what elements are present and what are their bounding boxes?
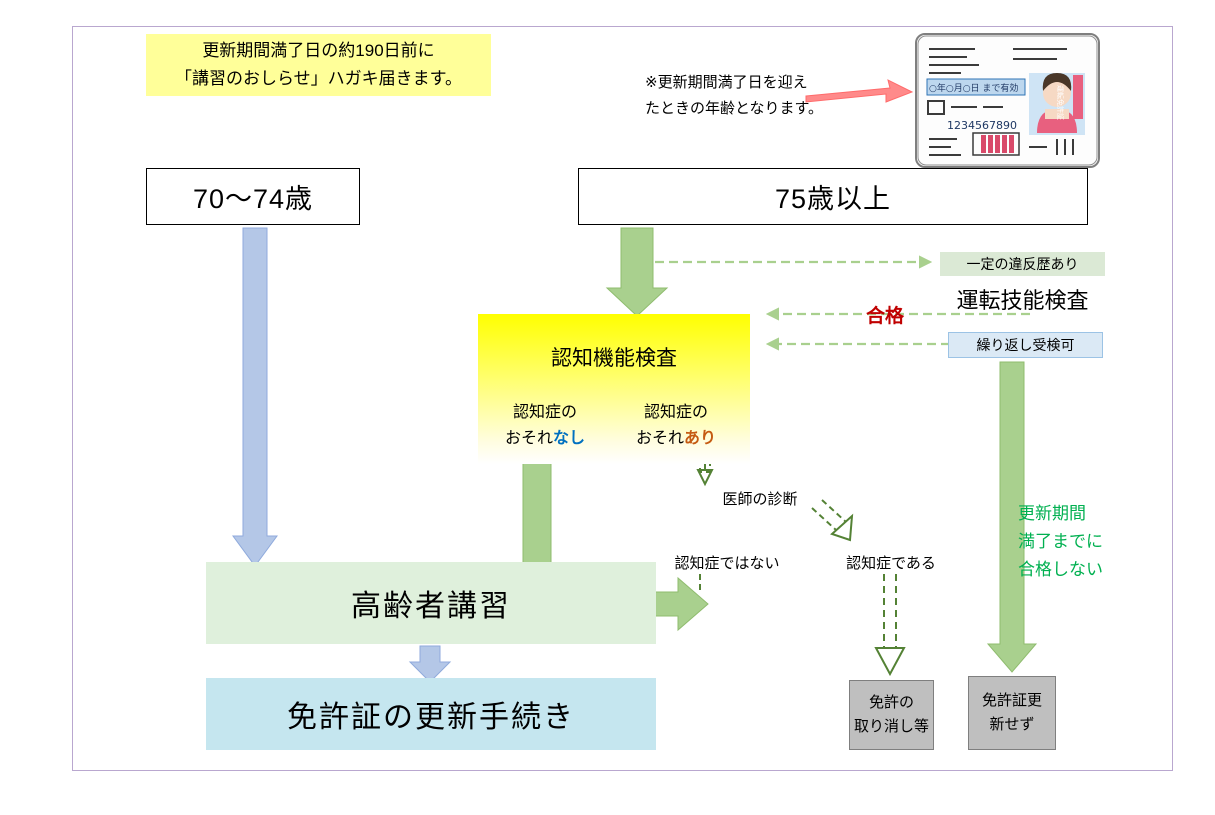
cognitive-result-yes-prefix: おそれ bbox=[636, 430, 684, 447]
fail-to-pass-line2: 満了までに bbox=[1018, 528, 1108, 556]
cognitive-result-no: 認知症の おそれなし bbox=[486, 400, 604, 452]
no-renewal-line2: 新せず bbox=[982, 713, 1042, 737]
cognitive-result-no-line1: 認知症の bbox=[486, 400, 604, 426]
age-group-70-74-box: 70～74歳 bbox=[146, 168, 360, 225]
violation-history-label: 一定の違反歴あり bbox=[940, 252, 1105, 276]
is-dementia-label: 認知症である bbox=[826, 550, 956, 574]
fail-to-pass-line3: 合格しない bbox=[1018, 556, 1108, 584]
cognitive-result-no-line2: おそれなし bbox=[486, 426, 604, 452]
license-cancellation-box: 免許の 取り消し等 bbox=[849, 680, 934, 750]
age-note-line1: ※更新期間満了日を迎え bbox=[645, 70, 905, 96]
fail-to-pass-label: 更新期間 満了までに 合格しない bbox=[1018, 500, 1108, 610]
notice-postcard-line1: 更新期間満了日の約190日前に bbox=[146, 37, 491, 65]
no-renewal-line1: 免許証更 bbox=[982, 689, 1042, 713]
cognitive-result-yes-line2: おそれあり bbox=[616, 426, 736, 452]
cognitive-result-no-emphasis: なし bbox=[553, 430, 585, 447]
no-renewal-box: 免許証更 新せず bbox=[968, 676, 1056, 750]
license-cancellation-line2: 取り消し等 bbox=[854, 715, 929, 739]
svg-text:1234567890: 1234567890 bbox=[947, 119, 1017, 132]
cognitive-test-title: 認知機能検査 bbox=[478, 342, 750, 372]
cognitive-result-no-prefix: おそれ bbox=[505, 430, 553, 447]
not-dementia-label: 認知症ではない bbox=[662, 550, 792, 574]
notice-postcard-line2: 「講習のおしらせ」ハガキ届きます。 bbox=[146, 65, 491, 93]
license-card-illustration: ○年○月○日 まで有効 1234567890 bbox=[915, 33, 1100, 168]
svg-text:運転免許証: 運転免許証 bbox=[1056, 85, 1065, 120]
cognitive-result-yes: 認知症の おそれあり bbox=[616, 400, 736, 452]
diagram-root: ○年○月○日 まで有効 1234567890 bbox=[0, 0, 1215, 815]
notice-postcard-note: 更新期間満了日の約190日前に 「講習のおしらせ」ハガキ届きます。 bbox=[146, 34, 491, 96]
driving-skill-test-label: 運転技能検査 bbox=[935, 282, 1110, 316]
fail-to-pass-line1: 更新期間 bbox=[1018, 500, 1108, 528]
pass-label: 合格 bbox=[845, 301, 925, 327]
license-renewal-box: 免許証の更新手続き bbox=[206, 678, 656, 750]
doctor-diagnosis-label: 医師の診断 bbox=[690, 486, 830, 510]
age-note-line2: たときの年齢となります。 bbox=[645, 96, 905, 122]
elderly-course-box: 高齢者講習 bbox=[206, 562, 656, 644]
cognitive-result-yes-emphasis: あり bbox=[684, 430, 716, 447]
cognitive-result-yes-line1: 認知症の bbox=[616, 400, 736, 426]
cognitive-test-box: 認知機能検査 認知症の おそれなし 認知症の おそれあり bbox=[478, 314, 750, 464]
retake-possible-label: 繰り返し受検可 bbox=[948, 332, 1103, 358]
license-cancellation-line1: 免許の bbox=[854, 691, 929, 715]
svg-text:○年○月○日 まで有効: ○年○月○日 まで有効 bbox=[929, 82, 1018, 94]
age-note: ※更新期間満了日を迎え たときの年齢となります。 bbox=[645, 70, 905, 126]
age-group-75-plus-box: 75歳以上 bbox=[578, 168, 1088, 225]
